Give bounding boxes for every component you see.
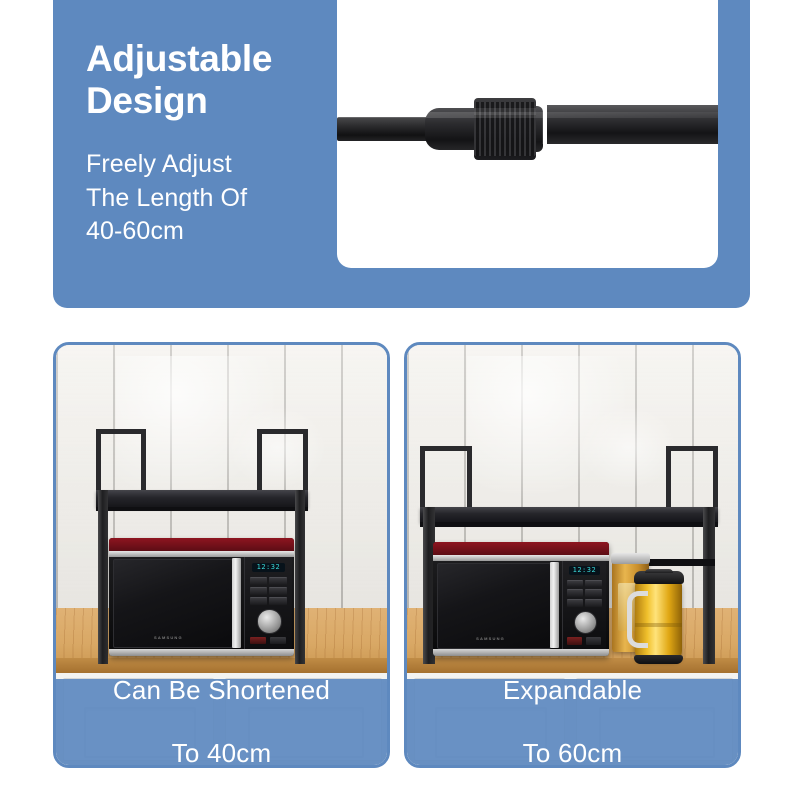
rack-rail-right [666,446,718,512]
card-expandable: SAMSUNG 12:32 [404,342,741,768]
caption-shortened: Can Be Shortened To 40cm [56,679,387,765]
thermos-base [634,655,683,664]
hero-title-line-2: Design [86,80,208,121]
microwave-button[interactable] [250,577,268,585]
hero-subtitle-line-1: Freely Adjust [86,150,232,178]
microwave-door: SAMSUNG [437,563,551,649]
microwave-oven: SAMSUNG 12:32 [109,538,294,656]
microwave-base-strip [433,649,608,656]
thermos-lid [634,571,684,584]
microwave-red-top-trim [109,538,294,551]
microwave-button[interactable] [567,580,584,588]
rack-shelf-edge [420,522,718,526]
hero-subtitle-line-2: The Length Of [86,184,247,212]
canister-lid [611,553,650,564]
microwave-button[interactable] [567,599,584,607]
thermos-handle [627,591,648,647]
microwave-start-button[interactable] [270,637,286,644]
rack-leg-left [98,490,109,664]
card-shortened: SAMSUNG 12:32 [53,342,390,768]
adjustment-collar [474,98,536,160]
microwave-start-button[interactable] [586,637,601,644]
rack-leg-right [295,490,306,664]
microwave-brand-logo: SAMSUNG [154,635,183,640]
product-closeup-panel [337,0,718,268]
rack-shelf-edge [96,507,308,512]
microwave-red-top-trim [433,542,608,554]
microwave-door: SAMSUNG [113,559,234,648]
pole-thick-section [547,105,718,144]
microwave-display: 12:32 [569,566,601,575]
gold-thermos [635,580,681,660]
comparison-cards: SAMSUNG 12:32 [53,342,750,764]
hero-subtitle-line-3: 40-60cm [86,217,184,245]
caption-expandable: Expandable To 60cm [407,679,738,765]
microwave-oven: SAMSUNG 12:32 [433,542,608,655]
microwave-button[interactable] [250,587,268,595]
hero-text-block: Adjustable Design Freely Adjust The Leng… [86,38,356,248]
microwave-button[interactable] [585,580,602,588]
microwave-base-strip [109,649,294,656]
microwave-button-grid [250,577,287,605]
microwave-button[interactable] [269,587,287,595]
hero-subtitle: Freely Adjust The Length Of 40-60cm [86,148,356,248]
rack-top-shelf [96,490,308,506]
rack-rail-left [96,429,146,495]
rack-rail-right [257,429,307,495]
microwave-button[interactable] [250,597,268,605]
rack-rail-left [420,446,472,512]
microwave-control-panel: 12:32 [244,557,291,649]
microwave-rotary-dial[interactable] [257,609,281,633]
microwave-button[interactable] [269,597,287,605]
microwave-rotary-dial[interactable] [574,611,597,634]
rack-leg-right [703,507,715,664]
caption-expandable-text: Expandable To 60cm [503,675,642,768]
microwave-control-panel: 12:32 [562,561,607,649]
product-infographic: Adjustable Design Freely Adjust The Leng… [0,0,800,800]
pole-gloss-highlight [337,112,718,118]
microwave-button[interactable] [585,589,602,597]
microwave-brand-logo: SAMSUNG [476,636,505,641]
telescoping-pole-illustration [337,0,718,268]
hero-title-line-1: Adjustable [86,38,272,79]
microwave-button[interactable] [269,577,287,585]
microwave-door-handle [232,558,241,647]
caption-shortened-line-1: Can Be Shortened [113,675,330,706]
hero-banner: Adjustable Design Freely Adjust The Leng… [53,0,750,308]
microwave-display: 12:32 [252,563,285,572]
caption-expandable-line-2: To 60cm [503,738,642,768]
microwave-stop-button[interactable] [250,637,266,644]
caption-expandable-line-1: Expandable [503,675,642,706]
microwave-door-handle [550,562,559,648]
caption-shortened-line-2: To 40cm [113,738,330,768]
thermos-band [635,623,681,627]
microwave-button-grid [567,580,602,607]
rack-top-shelf [420,507,718,522]
microwave-button[interactable] [567,589,584,597]
hero-title: Adjustable Design [86,38,356,122]
microwave-button[interactable] [585,599,602,607]
microwave-stop-button[interactable] [567,637,582,644]
caption-shortened-text: Can Be Shortened To 40cm [113,675,330,768]
